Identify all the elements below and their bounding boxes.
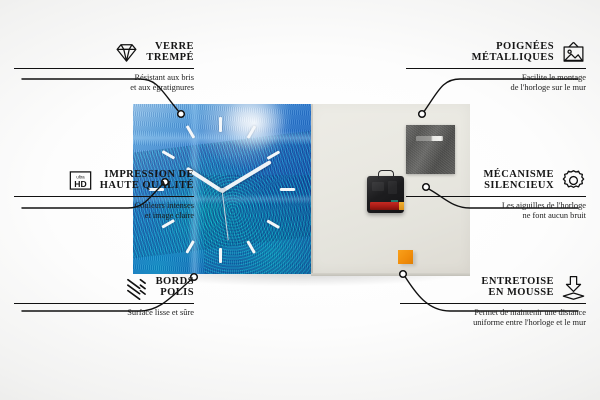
feature-divider (406, 68, 586, 69)
feature-header: POIGNÉES MÉTALLIQUES (406, 40, 586, 65)
ultra-hd-icon-big-label: HD (74, 179, 86, 189)
ultra-hd-icon: ultra HD (68, 168, 93, 193)
movement-hook (378, 170, 394, 179)
feature-entretoise-en-mousse: ENTRETOISE EN MOUSSE Permet de maintenir… (400, 275, 586, 329)
feature-title: BORDS POLIS (156, 277, 194, 299)
feature-bords-polis: BORDS POLIS Surface lisse et sûre (14, 275, 194, 318)
feature-mecanisme-silencieux: MÉCANISME SILENCIEUX Les aiguilles de l'… (406, 168, 586, 222)
feature-impression-haute-qualite: ultra HD IMPRESSION DE HAUTE QUALITÉ Cou… (14, 168, 194, 222)
feature-verre-trempe: VERRE TREMPÉ Résistant aux bris et aux é… (14, 40, 194, 94)
foam-spacer (398, 250, 413, 264)
feature-divider (406, 196, 586, 197)
quartz-movement-box (367, 176, 404, 213)
feature-subtitle: Couleurs intenses et image claire (14, 201, 194, 222)
feature-title: IMPRESSION DE HAUTE QUALITÉ (100, 170, 194, 192)
feature-header: VERRE TREMPÉ (14, 40, 194, 65)
feature-subtitle: Résistant aux bris et aux égratignures (14, 73, 194, 94)
battery-positive-tip (399, 202, 404, 210)
feature-title: ENTRETOISE EN MOUSSE (481, 277, 554, 299)
battery (370, 202, 399, 210)
feature-title: POIGNÉES MÉTALLIQUES (472, 42, 554, 64)
clock-marker (219, 117, 222, 132)
clock-marker (219, 248, 222, 263)
movement-chip-left (372, 182, 384, 191)
feature-divider (14, 68, 194, 69)
feature-header: BORDS POLIS (14, 275, 194, 300)
feature-subtitle: Surface lisse et sûre (14, 308, 194, 319)
clock-marker (280, 188, 295, 191)
feature-divider (14, 196, 194, 197)
feature-subtitle: Permet de maintenir une distance uniform… (400, 308, 586, 329)
feature-divider (14, 303, 194, 304)
polished-edges-icon (124, 275, 149, 300)
panel-left-edge (311, 104, 313, 273)
feature-title: MÉCANISME SILENCIEUX (483, 170, 554, 192)
infographic-canvas: VERRE TREMPÉ Résistant aux bris et aux é… (0, 0, 600, 400)
diamond-icon (114, 40, 139, 65)
foam-spacer-arrow-icon (561, 275, 586, 300)
feature-poignees-metalliques: POIGNÉES MÉTALLIQUES Facilite le montage… (406, 40, 586, 94)
feature-subtitle: Facilite le montage de l'horloge sur le … (406, 73, 586, 94)
feature-subtitle: Les aiguilles de l'horloge ne font aucun… (406, 201, 586, 222)
metal-hanger-plate (406, 125, 455, 174)
clock-center-cap (220, 188, 225, 193)
feature-header: ultra HD IMPRESSION DE HAUTE QUALITÉ (14, 168, 194, 193)
movement-chip-right (388, 181, 397, 194)
feature-title: VERRE TREMPÉ (146, 42, 194, 64)
hanger-slot (416, 136, 443, 141)
hanger-texture (406, 125, 455, 174)
feature-header: ENTRETOISE EN MOUSSE (400, 275, 586, 300)
feature-header: MÉCANISME SILENCIEUX (406, 168, 586, 193)
feature-divider (400, 303, 586, 304)
picture-hanger-icon (561, 40, 586, 65)
gear-icon (561, 168, 586, 193)
